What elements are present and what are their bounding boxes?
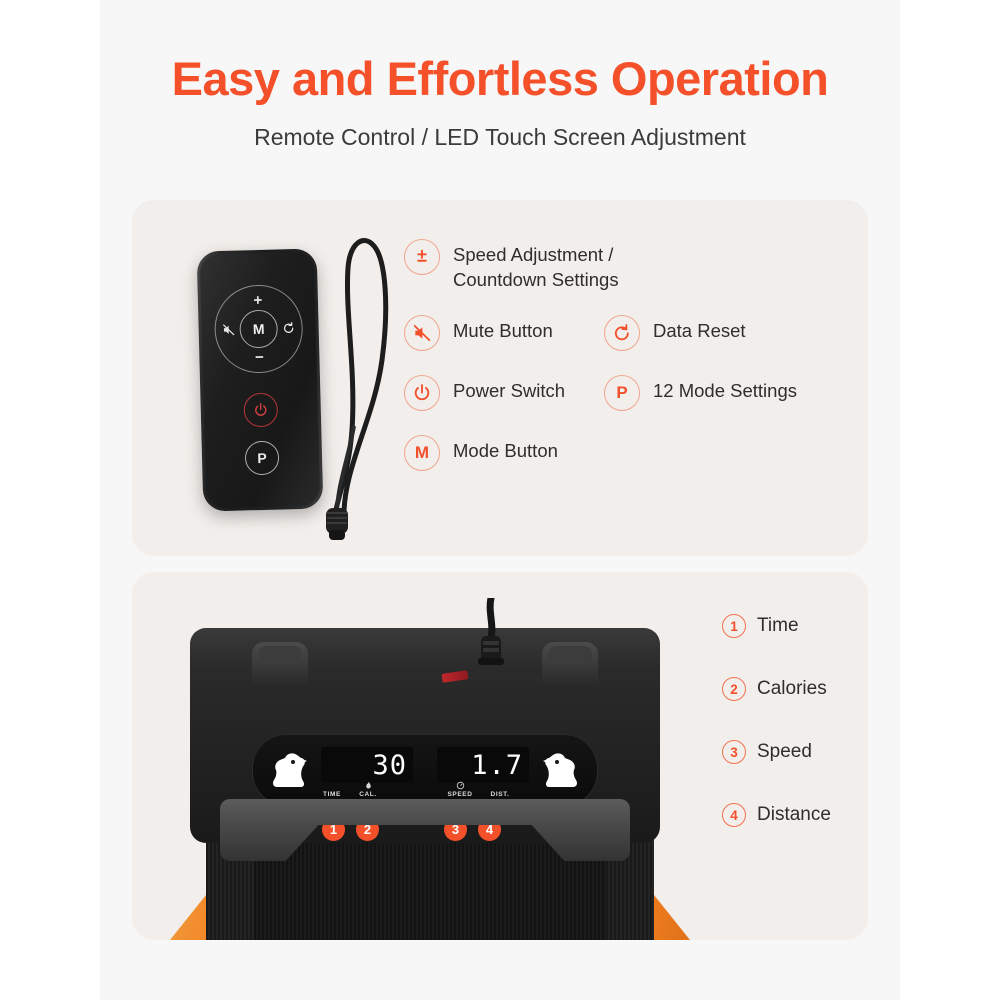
legend-row-4: M Mode Button [404,434,854,471]
led-display-panel[interactable]: 30 1.7 TIME CAL. SPEED DIST. [252,734,598,806]
callout-label-speed: Speed [757,741,812,763]
page-subtitle: Remote Control / LED Touch Screen Adjust… [100,124,900,151]
console-shell: 30 1.7 TIME CAL. SPEED DIST. [190,628,660,843]
callout-label-time: Time [757,615,799,637]
dog-silhouette-icon [537,749,583,793]
led-label-speed: SPEED [443,791,477,798]
callout-item-time[interactable]: 1 Time [722,614,868,638]
reset-icon [604,315,640,351]
callout-number-2: 2 [722,677,746,701]
led-console-card: 30 1.7 TIME CAL. SPEED DIST. [132,572,868,940]
power-plug-icon [478,598,504,690]
dial-reset-button[interactable] [281,321,295,335]
callout-number-3: 3 [722,740,746,764]
remote-power-button[interactable] [243,393,278,428]
legend-label: 12 Mode Settings [653,374,797,404]
led-window-speed-dist: 1.7 [437,747,529,783]
legend-item-mode-settings[interactable]: P 12 Mode Settings [604,374,797,411]
remote-control-image: + − M [182,220,442,540]
power-icon [404,375,440,411]
legend-label: Speed Adjustment / Countdown Settings [453,238,619,292]
legend-item-speed-adjustment[interactable]: Speed Adjustment / Countdown Settings [404,238,619,292]
legend-item-power-switch[interactable]: Power Switch [404,374,604,411]
treadmill-console-image: 30 1.7 TIME CAL. SPEED DIST. [150,572,710,940]
reset-icon [281,321,295,335]
remote-body: + − M [197,248,324,511]
legend-row-1: Speed Adjustment / Countdown Settings [404,238,854,292]
dial-mute-button[interactable] [221,323,235,337]
remote-control-card: + − M [132,200,868,556]
knob-top-left [258,646,302,664]
callout-item-calories[interactable]: 2 Calories [722,677,868,701]
knob-top-right [548,646,592,664]
callout-label-distance: Distance [757,804,831,826]
dog-silhouette-icon [267,749,313,793]
legend-item-mute-button[interactable]: Mute Button [404,314,604,351]
letter-m-icon: M [404,435,440,471]
console-knob-left [252,642,308,690]
header: Easy and Effortless Operation Remote Con… [100,52,900,151]
legend-label: Mode Button [453,434,558,464]
letter-m-glyph: M [415,443,429,463]
led-label-distance: DIST. [485,791,515,798]
remote-dial[interactable]: + − M [214,284,304,374]
callout-item-distance[interactable]: 4 Distance [722,803,868,827]
callout-label-calories: Calories [757,678,827,700]
legend-label: Mute Button [453,314,553,344]
remote-program-button[interactable]: P [245,441,280,476]
led-window-time-cal: 30 [321,747,413,783]
dial-mode-button[interactable]: M [239,310,278,349]
callout-number-4: 4 [722,803,746,827]
legend-label: Data Reset [653,314,746,344]
callout-number-1: 1 [722,614,746,638]
gauge-icon [456,781,465,790]
mute-icon [221,323,235,337]
led-value-1: 30 [372,752,407,779]
legend-item-data-reset[interactable]: Data Reset [604,314,746,351]
plus-minus-icon [404,239,440,275]
letter-p-icon: P [604,375,640,411]
dial-minus-button[interactable]: − [255,350,264,365]
callout-item-speed[interactable]: 3 Speed [722,740,868,764]
led-value-2: 1.7 [471,752,523,779]
callout-list: 1 Time 2 Calories 3 Speed 4 Distance [722,614,868,866]
dial-plus-button[interactable]: + [253,293,262,308]
page-title: Easy and Effortless Operation [100,52,900,106]
mute-icon [404,315,440,351]
legend-item-mode-button[interactable]: M Mode Button [404,434,558,471]
power-icon [253,402,269,418]
led-label-time: TIME [317,791,347,798]
safety-key [442,670,469,683]
remote-face: + − M [200,252,321,509]
flame-icon [364,781,373,790]
legend-row-2: Mute Button Data Reset [404,314,854,351]
letter-p-glyph: P [616,383,627,403]
console-knob-right [542,642,598,690]
legend-list: Speed Adjustment / Countdown Settings Mu… [404,238,854,471]
legend-label: Power Switch [453,374,565,404]
legend-row-3: Power Switch P 12 Mode Settings [404,374,854,411]
led-label-calories: CAL. [353,791,383,798]
